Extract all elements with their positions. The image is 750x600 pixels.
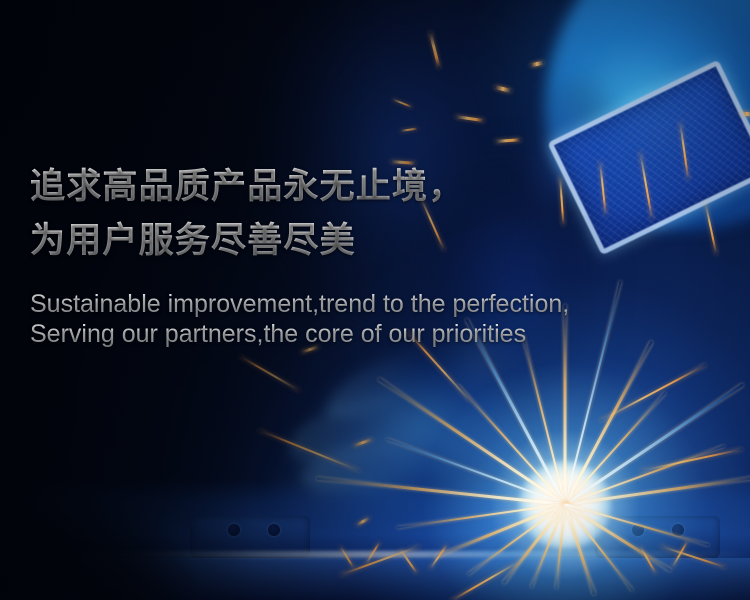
welding-hero-banner: 追求高品质产品永无止境， 为用户服务尽善尽美 Sustainable impro… — [0, 0, 750, 600]
headline-line-2: 为用户服务尽善尽美 — [30, 214, 730, 268]
subhead-line-2: Serving our partners,the core of our pri… — [30, 319, 730, 349]
banner-copy: 追求高品质产品永无止境， 为用户服务尽善尽美 Sustainable impro… — [30, 160, 730, 349]
subhead-line-1: Sustainable improvement,trend to the per… — [30, 289, 730, 319]
subhead-block: Sustainable improvement,trend to the per… — [30, 289, 730, 349]
headline-line-1: 追求高品质产品永无止境， — [30, 160, 730, 214]
